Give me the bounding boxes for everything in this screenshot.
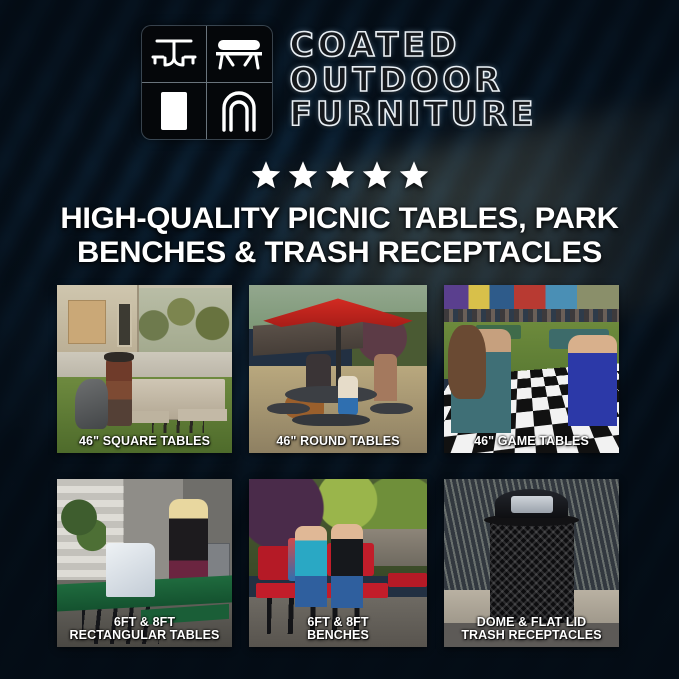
star-icon [288,160,318,190]
caption-line-1: 46" SQUARE TABLES [60,435,229,448]
product-tile-square-tables[interactable]: 46" SQUARE TABLES [57,285,232,453]
wordmark-line-1: COATED [290,28,538,62]
photo-mesh-trash-can [490,519,574,623]
product-caption: 46" GAME TABLES [444,435,619,448]
trash-receptacle-icon [142,83,207,140]
caption-line-2: BENCHES [252,629,424,642]
photo-window [117,302,133,347]
photo-dog [75,379,108,429]
caption-line-2: RECTANGULAR TABLES [60,629,229,642]
caption-line-1: 46" GAME TABLES [447,435,616,448]
star-icon [325,160,355,190]
star-icon [399,160,429,190]
product-caption: DOME & FLAT LID TRASH RECEPTACLES [444,616,619,643]
photo-boy-left [295,526,327,607]
bench-icon [207,26,272,83]
headline: HIGH-QUALITY PICNIC TABLES, PARK BENCHES… [0,202,679,270]
brand-logo: COATED OUTDOOR FURNITURE [0,26,679,139]
photo-trees [134,288,232,355]
product-tile-game-tables[interactable]: 46" GAME TABLES [444,285,619,453]
caption-line-1: 6FT & 8FT [60,616,229,629]
photo-person [106,356,132,427]
product-photo-square-tables [57,285,232,453]
product-caption: 46" ROUND TABLES [249,435,427,448]
photo-seat-right [370,403,413,415]
photo-child [338,376,358,416]
product-grid: 46" SQUARE TABLES 46" ROUND [57,285,622,647]
product-tile-benches[interactable]: 6FT & 8FT BENCHES [249,479,427,647]
headline-line-1: HIGH-QUALITY PICNIC TABLES, PARK [0,202,679,236]
caption-line-1: 6FT & 8FT [252,616,424,629]
headline-line-2: BENCHES & TRASH RECEPTACLES [0,236,679,270]
bike-rack-arch-icon [207,83,272,140]
product-tile-rectangular-tables[interactable]: 6FT & 8FT RECTANGULAR TABLES [57,479,232,647]
photo-seat-front [292,414,370,426]
photo-ivy [61,489,107,560]
photo-woman [169,499,208,586]
star-rating [0,160,679,190]
photo-woman [374,354,397,401]
photo-bag [106,543,155,597]
product-tile-round-tables[interactable]: 46" ROUND TABLES [249,285,427,453]
product-caption: 6FT & 8FT BENCHES [249,616,427,643]
caption-line-1: DOME & FLAT LID [447,616,616,629]
product-photo-round-tables [249,285,427,453]
product-tile-trash-receptacles[interactable]: DOME & FLAT LID TRASH RECEPTACLES [444,479,619,647]
caption-line-1: 46" ROUND TABLES [252,435,424,448]
product-caption: 6FT & 8FT RECTANGULAR TABLES [57,616,232,643]
promo-banner: COATED OUTDOOR FURNITURE HIGH-QUALITY PI… [0,0,679,679]
photo-lid-opening [511,496,553,513]
photo-seat-left [267,403,310,415]
photo-round-table [285,386,378,403]
logo-icon-grid [142,26,272,139]
photo-hair [448,325,487,399]
brand-wordmark: COATED OUTDOOR FURNITURE [290,26,538,131]
photo-boy [568,335,617,426]
wordmark-line-2: OUTDOOR [290,63,538,97]
product-caption: 46" SQUARE TABLES [57,435,232,448]
photo-hat [104,352,134,362]
picnic-table-icon [142,26,207,83]
photo-bench-left [127,411,169,423]
photo-bench-right [178,409,227,421]
star-icon [251,160,281,190]
star-icon [362,160,392,190]
photo-garage-door [68,300,107,344]
caption-line-2: TRASH RECEPTACLES [447,629,616,642]
photo-boy-right [331,524,363,608]
photo-bench-seat-right [388,573,427,586]
wordmark-line-3: FURNITURE [290,97,538,131]
product-photo-game-tables [444,285,619,453]
